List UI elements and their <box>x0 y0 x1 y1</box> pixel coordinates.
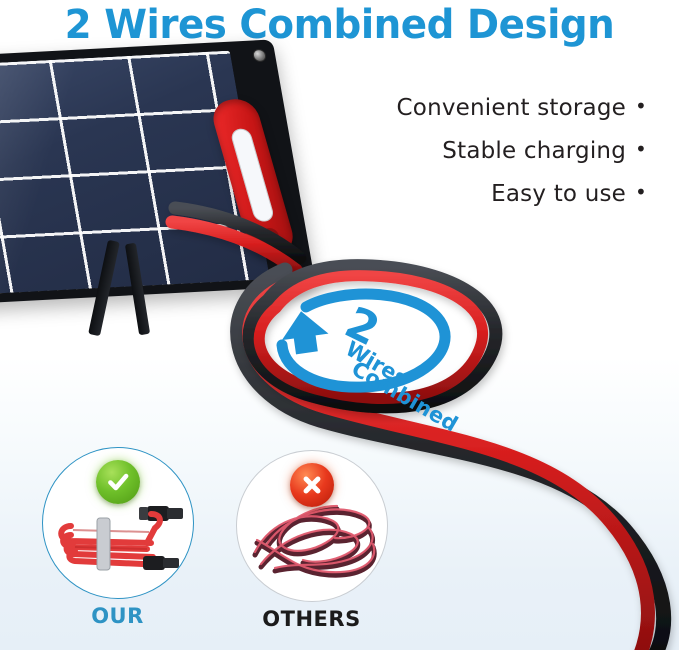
product-image-canvas: 2 Wires Combined Design Convenient stora… <box>0 0 679 650</box>
two-wires-combined-badge: 2 Wires Combined <box>268 281 464 397</box>
check-badge <box>96 460 140 504</box>
others-image-circle <box>236 450 388 602</box>
sae-connector <box>143 556 179 570</box>
others-label: OTHERS <box>230 607 393 631</box>
comparison-our: OUR <box>36 447 199 647</box>
check-icon <box>105 469 131 495</box>
comparison-others: OTHERS <box>230 450 393 650</box>
cross-icon <box>299 472 325 498</box>
our-image-circle <box>42 447 194 599</box>
cross-badge <box>290 463 334 507</box>
cable-run-from-panel <box>172 208 300 270</box>
our-label: OUR <box>36 604 199 628</box>
